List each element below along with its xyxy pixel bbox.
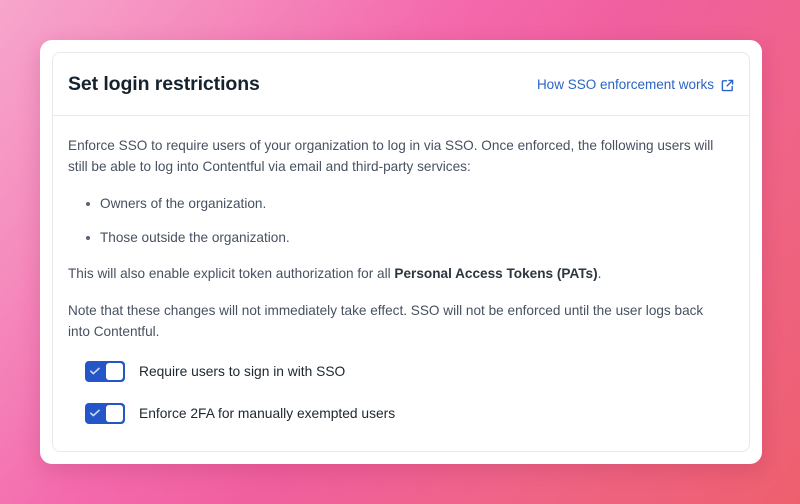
require-sso-toggle-label: Require users to sign in with SSO [139,363,345,381]
page-title: Set login restrictions [68,73,260,96]
help-link-label: How SSO enforcement works [537,77,714,92]
enforce-2fa-toggle-label: Enforce 2FA for manually exempted users [139,405,395,423]
external-link-icon [721,79,734,92]
enforce-2fa-toggle-row: Enforce 2FA for manually exempted users [68,403,734,424]
list-item: Owners of the organization. [68,193,734,214]
toggle-knob [106,405,123,422]
exempt-users-list: Owners of the organization. Those outsid… [68,193,734,248]
note-paragraph: Note that these changes will not immedia… [68,300,726,342]
intro-paragraph: Enforce SSO to require users of your org… [68,135,726,177]
enforce-2fa-toggle[interactable] [85,403,125,424]
check-icon [89,407,101,419]
card-header: Set login restrictions How SSO enforceme… [53,53,749,116]
check-icon [89,365,101,377]
settings-panel: Set login restrictions How SSO enforceme… [40,40,762,464]
personal-access-tokens-emphasis: Personal Access Tokens (PATs) [394,266,597,281]
login-restrictions-card: Set login restrictions How SSO enforceme… [52,52,750,452]
token-authorization-paragraph: This will also enable explicit token aut… [68,263,726,284]
list-item: Those outside the organization. [68,227,734,248]
card-body: Enforce SSO to require users of your org… [53,116,749,424]
how-sso-enforcement-works-link[interactable]: How SSO enforcement works [537,77,734,92]
require-sso-toggle[interactable] [85,361,125,382]
require-sso-toggle-row: Require users to sign in with SSO [68,361,734,382]
toggle-knob [106,363,123,380]
token-paragraph-prefix: This will also enable explicit token aut… [68,266,394,281]
token-paragraph-suffix: . [598,266,602,281]
